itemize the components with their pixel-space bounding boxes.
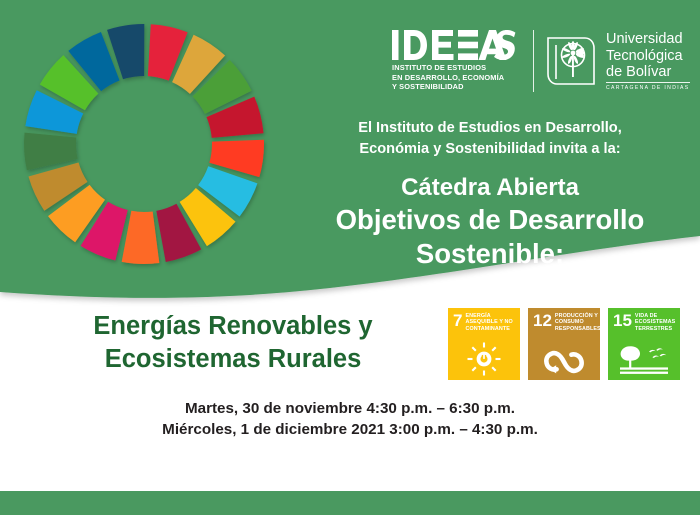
event-title-line-2: Objetivos de Desarrollo <box>290 203 690 237</box>
event-title-line-1: Cátedra Abierta <box>290 172 690 203</box>
universidad-tecnologica-de-bolivar-logo: Universidad Tecnológica de Bolívar CARTA… <box>545 31 690 90</box>
sdg-goal-7-badge: 7 ENERGÍA ASEQUIBLE Y NO CONTAMINANTE <box>448 308 520 380</box>
logo-row: INSTITUTO DE ESTUDIOS EN DESARROLLO, ECO… <box>392 24 692 98</box>
infinity-loop-icon <box>528 348 600 376</box>
session-subject: Energías Renovables y Ecosistemas Rurale… <box>38 310 428 376</box>
ideeas-subtitle: INSTITUTO DE ESTUDIOS EN DESARROLLO, ECO… <box>392 63 524 91</box>
sdg-goal-12-head: 12 PRODUCCIÓN Y CONSUMO RESPONSABLES <box>528 308 600 332</box>
sdg-goal-15-badge: 15 VIDA DE ECOSISTEMAS TERRESTRES <box>608 308 680 380</box>
tree-birds-icon <box>608 344 680 376</box>
utb-name-line-2: Tecnológica <box>606 48 690 64</box>
utb-name-line-1: Universidad <box>606 31 690 47</box>
poster-canvas: INSTITUTO DE ESTUDIOS EN DESARROLLO, ECO… <box>0 0 700 515</box>
event-title: Cátedra Abierta Objetivos de Desarrollo … <box>290 172 690 271</box>
schedule-line-1: Martes, 30 de noviembre 4:30 p.m. – 6:30… <box>60 398 640 419</box>
event-title-line-3: Sostenible: <box>290 237 690 271</box>
ideeas-logo: INSTITUTO DE ESTUDIOS EN DESARROLLO, ECO… <box>392 30 524 91</box>
session-subject-line-2: Ecosistemas Rurales <box>38 343 428 376</box>
ideeas-subtitle-line-2: EN DESARROLLO, ECONOMÍA <box>392 73 524 82</box>
sdg-colour-wheel-icon <box>18 18 270 270</box>
sdg-wheel-segment-9 <box>122 211 160 264</box>
utb-name-line-3: de Bolívar <box>606 64 690 80</box>
ideeas-subtitle-line-3: Y SOSTENIBILIDAD <box>392 82 524 91</box>
invitation-line-1: El Instituto de Estudios en Desarrollo, <box>300 118 680 139</box>
logo-divider <box>533 30 534 92</box>
sdg-wheel-segment-13 <box>24 133 78 171</box>
utb-palm-book-icon <box>545 35 597 87</box>
ideeas-subtitle-line-1: INSTITUTO DE ESTUDIOS <box>392 63 524 72</box>
session-subject-line-1: Energías Renovables y <box>38 310 428 343</box>
schedule-text: Martes, 30 de noviembre 4:30 p.m. – 6:30… <box>60 398 640 440</box>
sdg-goal-7-number: 7 <box>453 313 462 328</box>
invitation-text: El Instituto de Estudios en Desarrollo, … <box>300 118 680 160</box>
utb-city: CARTAGENA DE INDIAS <box>606 85 690 91</box>
sdg-goal-12-label: PRODUCCIÓN Y CONSUMO RESPONSABLES <box>555 313 600 332</box>
footer-bar <box>0 491 700 515</box>
invitation-line-2: Económia y Sostenibilidad invita a la: <box>300 139 680 160</box>
utb-rule <box>606 82 690 83</box>
sdg-goal-15-label: VIDA DE ECOSISTEMAS TERRESTRES <box>635 313 676 332</box>
sdg-goal-15-number: 15 <box>613 313 632 328</box>
sdg-goal-15-head: 15 VIDA DE ECOSISTEMAS TERRESTRES <box>608 308 680 332</box>
sdg-goal-row: 7 ENERGÍA ASEQUIBLE Y NO CONTAMINANTE <box>448 308 680 380</box>
sdg-goal-12-number: 12 <box>533 313 552 328</box>
sdg-goal-7-label: ENERGÍA ASEQUIBLE Y NO CONTAMINANTE <box>465 313 516 332</box>
utb-text-block: Universidad Tecnológica de Bolívar CARTA… <box>606 31 690 90</box>
sdg-goal-12-badge: 12 PRODUCCIÓN Y CONSUMO RESPONSABLES <box>528 308 600 380</box>
sdg-goal-7-head: 7 ENERGÍA ASEQUIBLE Y NO CONTAMINANTE <box>448 308 520 332</box>
schedule-line-2: Miércoles, 1 de diciembre 2021 3:00 p.m.… <box>60 419 640 440</box>
sun-power-icon <box>448 342 520 376</box>
ideeas-wordmark <box>392 30 524 60</box>
